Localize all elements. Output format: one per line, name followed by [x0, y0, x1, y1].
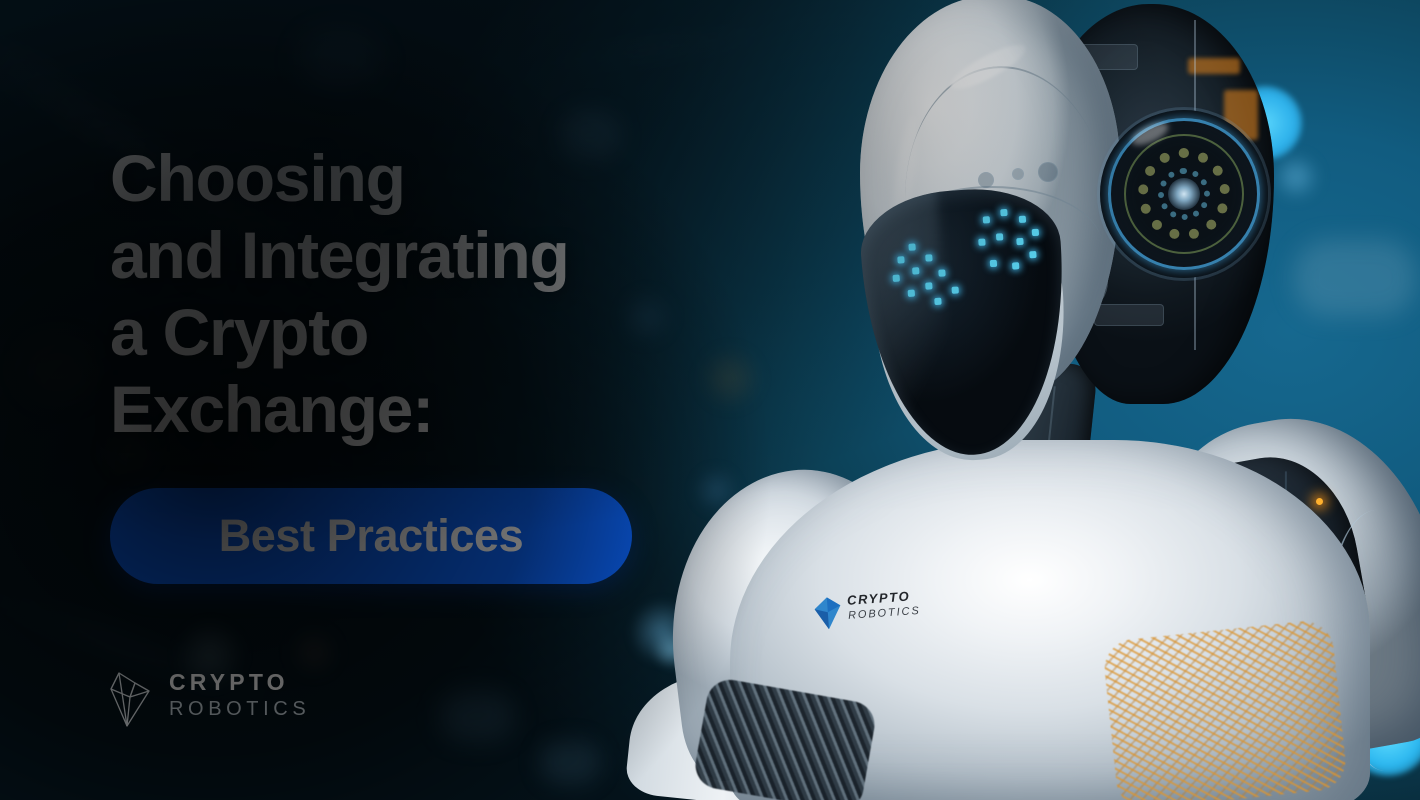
badge-label: Best Practices — [219, 510, 524, 562]
robot-eye-sensor — [1100, 110, 1268, 278]
crystal-diamond-icon — [105, 669, 155, 727]
page-title: Choosing and Integrating a Crypto Exchan… — [110, 140, 750, 448]
robot-illustration: CRYPTO ROBOTICS — [640, 0, 1420, 800]
brand-logo-text: CRYPTO ROBOTICS — [169, 670, 310, 721]
brand-logo[interactable]: CRYPTO ROBOTICS — [105, 665, 345, 731]
robot-chest-logo-text: CRYPTO ROBOTICS — [847, 589, 922, 623]
robot-wiring-bundle — [1102, 618, 1349, 800]
brand-logo-line1: CRYPTO — [169, 670, 310, 695]
robot-chest-logo-line2: ROBOTICS — [848, 605, 921, 623]
brand-logo-line2: ROBOTICS — [169, 697, 310, 721]
crystal-diamond-icon — [814, 596, 842, 630]
hero-banner: CRYPTO ROBOTICS — [0, 0, 1420, 800]
robot-chest-logo: CRYPTO ROBOTICS — [814, 586, 937, 640]
best-practices-badge[interactable]: Best Practices — [110, 488, 632, 584]
robot-chest-logo-line1: CRYPTO — [847, 589, 920, 607]
robot-head — [850, 0, 1250, 410]
